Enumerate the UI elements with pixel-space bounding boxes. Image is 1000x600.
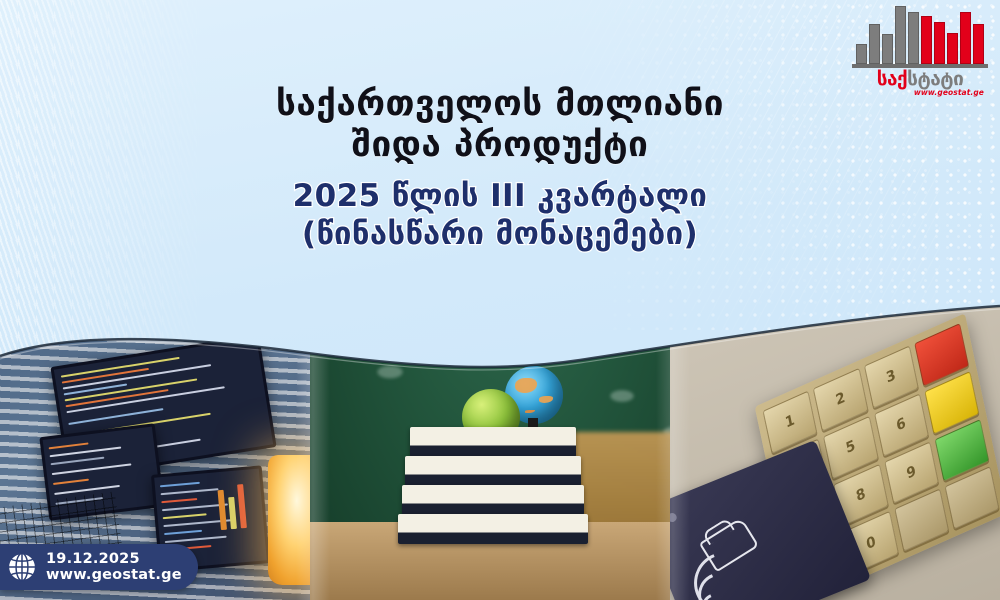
title-block: საქართველოს მთლიანი შიდა პროდუქტი 2025 წ… — [0, 84, 1000, 254]
logo-bar-7 — [934, 22, 945, 64]
logo-bar-9 — [960, 12, 971, 64]
logo-bar-4 — [895, 6, 906, 64]
logo-bar-2 — [869, 24, 880, 64]
badge-date: 19.12.2025 — [46, 551, 182, 567]
date-url-badge[interactable]: 19.12.2025 www.geostat.ge — [0, 544, 198, 590]
page-title-line-1: საქართველოს მთლიანი — [0, 84, 1000, 125]
badge-text: 19.12.2025 www.geostat.ge — [46, 551, 182, 583]
geostat-gdp-banner: 1 2 3 4 5 6 7 8 9 0 — [0, 0, 1000, 600]
page-title-line-2: შიდა პროდუქტი — [0, 125, 1000, 166]
subtitle-line-2: (წინასწარი მონაცემები) — [0, 215, 1000, 253]
reader-led — [670, 512, 678, 524]
logo-bar-chart — [852, 6, 988, 68]
book-stack — [398, 428, 588, 544]
logo-bar-8 — [947, 33, 958, 64]
badge-url: www.geostat.ge — [46, 567, 182, 583]
subtitle-block: 2025 წლის III კვარტალი (წინასწარი მონაცე… — [0, 177, 1000, 254]
logo-bar-1 — [856, 44, 867, 64]
globe-icon — [7, 552, 37, 582]
logo-bar-6 — [921, 16, 932, 64]
subtitle-line-1: 2025 წლის III კვარტალი — [0, 177, 1000, 215]
logo-bar-5 — [908, 12, 919, 64]
logo-bar-3 — [882, 34, 893, 64]
logo-bar-10 — [973, 24, 984, 64]
